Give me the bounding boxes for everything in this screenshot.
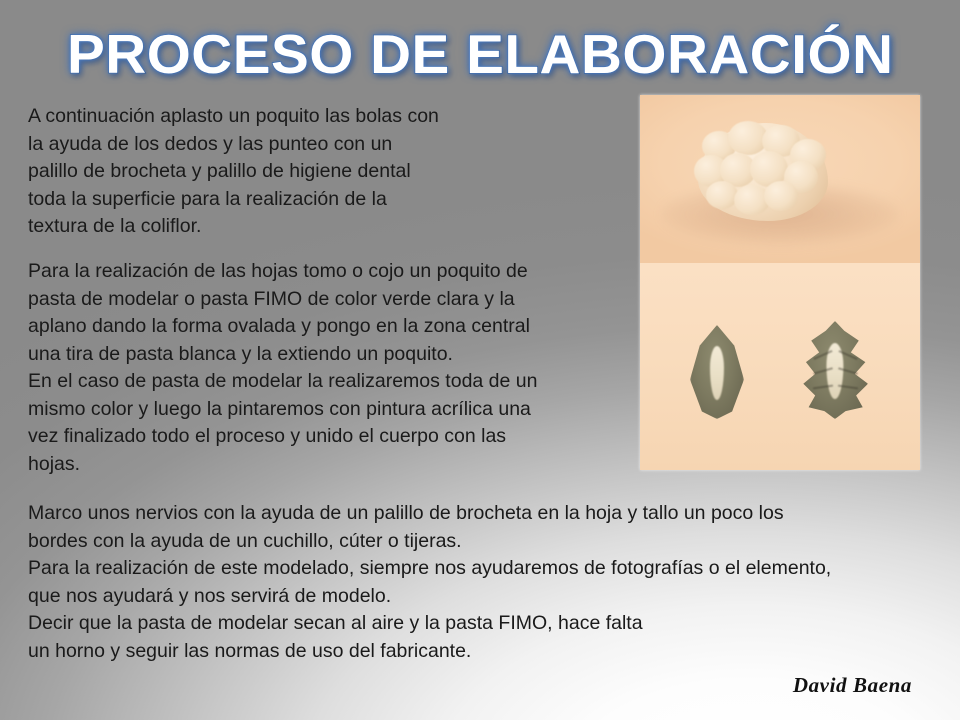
page-title: PROCESO DE ELABORACIÓN xyxy=(67,26,894,84)
author-signature: David Baena xyxy=(793,673,912,698)
presentation-slide: PROCESO DE ELABORACIÓN xyxy=(0,0,960,720)
title-area: PROCESO DE ELABORACIÓN xyxy=(0,26,960,84)
picture-stack xyxy=(640,95,920,470)
cauliflower-clay-model-photo xyxy=(640,95,920,263)
clay-leaf-veined xyxy=(802,321,868,419)
cauliflower-floret xyxy=(764,181,798,211)
paragraph-step-one: A continuación aplasto un poquito las bo… xyxy=(28,103,628,241)
cauliflower-floret xyxy=(706,181,738,209)
paragraph-step-two: Para la realización de las hojas tomo o … xyxy=(28,258,628,478)
paragraph-step-three: Marco unos nervios con la ayuda de un pa… xyxy=(28,500,928,665)
clay-leaves-photo xyxy=(640,263,920,470)
clay-leaf-plain xyxy=(690,325,744,419)
